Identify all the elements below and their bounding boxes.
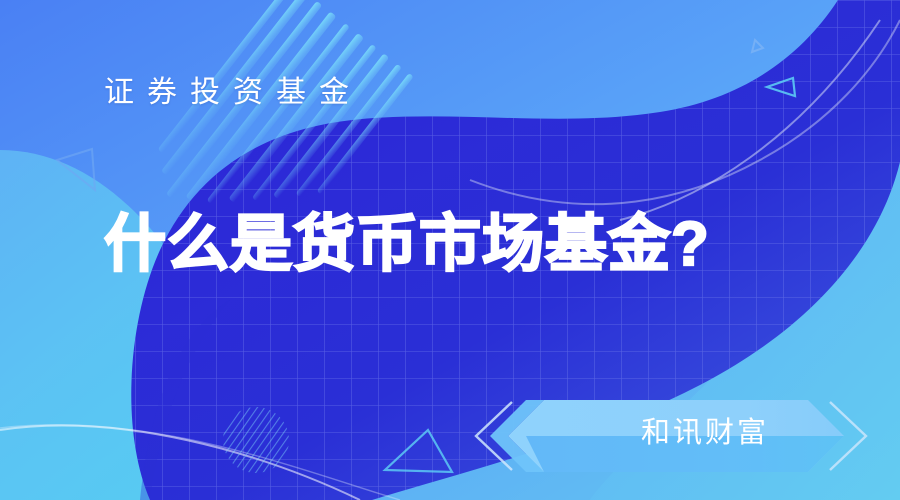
striped-circle <box>223 407 289 473</box>
thin-arc-top-right <box>620 20 880 220</box>
triangle-outline-top-right-small <box>752 40 763 52</box>
badge-label: 和讯财富 <box>580 414 830 453</box>
triangle-outline-bottom <box>385 430 452 472</box>
banner-root: 证券投资基金 什么是货币市场基金? <box>0 0 900 500</box>
banner-subtitle: 证券投资基金 <box>104 78 362 108</box>
triangle-outline-left <box>57 149 95 190</box>
banner-headline: 什么是货币市场基金? <box>104 212 710 277</box>
brand-badge: 和讯财富 <box>468 396 900 474</box>
triangle-outline-top-right-large <box>767 78 795 96</box>
thin-arc-bottom-left <box>0 426 360 500</box>
